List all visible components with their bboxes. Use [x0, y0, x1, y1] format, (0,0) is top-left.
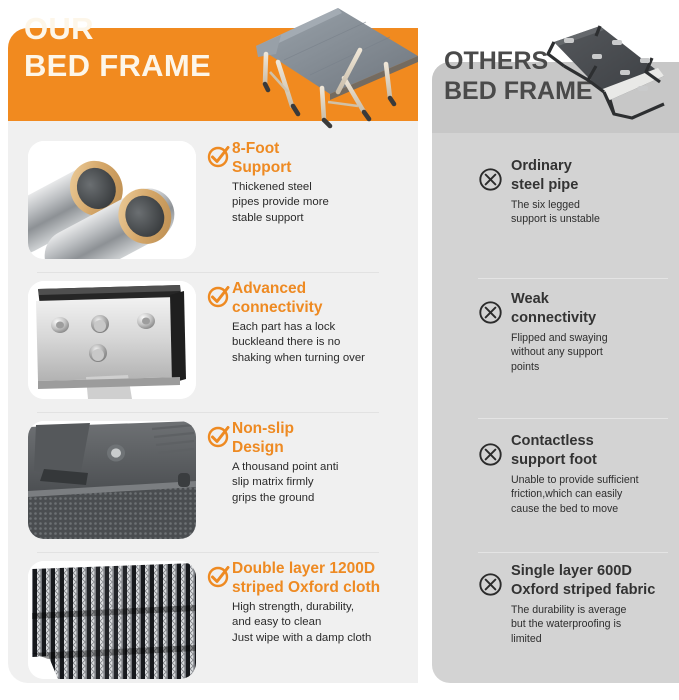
competitor-text-4: Single layer 600D Oxford striped fabric …: [511, 562, 679, 646]
competitor-desc-3: Unable to provide sufficient friction,wh…: [511, 473, 679, 516]
our-divider-1: [37, 272, 379, 273]
competitor-row-1: Ordinary steel pipe The six legged suppo…: [478, 155, 674, 295]
our-product-title: OUR BED FRAME: [24, 10, 211, 84]
competitor-desc-1: The six legged support is unstable: [511, 198, 679, 227]
check-circle-icon: [206, 143, 232, 169]
our-feature-title-3: Non-slip Design: [232, 419, 414, 457]
competitor-title-1: Ordinary steel pipe: [511, 157, 679, 195]
our-feature-desc-2: Each part has a lock buckleand there is …: [232, 320, 414, 366]
competitor-desc-4: The durability is average but the waterp…: [511, 603, 679, 646]
competitor-title-3: Contactless support foot: [511, 432, 679, 470]
competitor-divider-1: [478, 278, 668, 279]
competitor-text-3: Contactless support foot Unable to provi…: [511, 432, 679, 516]
our-feature-text-1: 8-Foot Support Thickened steel pipes pro…: [232, 139, 414, 226]
competitor-title-2: Weak connectivity: [511, 290, 679, 328]
x-circle-icon: [478, 442, 503, 467]
our-feature-row-3: Non-slip Design A thousand point anti sl…: [28, 415, 410, 555]
our-feature-title-2: Advanced connectivity: [232, 279, 414, 317]
our-feature-text-4: Double layer 1200D striped Oxford cloth …: [232, 559, 432, 646]
competitor-text-1: Ordinary steel pipe The six legged suppo…: [511, 157, 679, 227]
our-feature-text-2: Advanced connectivity Each part has a lo…: [232, 279, 414, 366]
our-feature-desc-3: A thousand point anti slip matrix firmly…: [232, 460, 414, 506]
our-feature-row-4: Double layer 1200D striped Oxford cloth …: [28, 555, 410, 695]
our-feature-title-4: Double layer 1200D striped Oxford cloth: [232, 559, 432, 597]
competitor-divider-2: [478, 418, 668, 419]
competitor-title-4: Single layer 600D Oxford striped fabric: [511, 562, 679, 600]
check-circle-icon: [206, 563, 232, 589]
check-circle-icon: [206, 283, 232, 309]
competitor-text-2: Weak connectivity Flipped and swaying wi…: [511, 290, 679, 374]
our-feature-title-1: 8-Foot Support: [232, 139, 414, 177]
our-feature-desc-4: High strength, durability, and easy to c…: [232, 600, 432, 646]
our-feature-row-2: Advanced connectivity Each part has a lo…: [28, 275, 410, 415]
check-circle-icon: [206, 423, 232, 449]
competitor-row-4: Single layer 600D Oxford striped fabric …: [478, 560, 674, 700]
x-circle-icon: [478, 300, 503, 325]
our-feature-text-3: Non-slip Design A thousand point anti sl…: [232, 419, 414, 506]
our-divider-3: [37, 552, 379, 553]
steel-pipe-cross-section-photo: [28, 141, 196, 259]
competitor-row-2: Weak connectivity Flipped and swaying wi…: [478, 288, 674, 428]
non-slip-foot-photo: [28, 421, 196, 539]
striped-oxford-fabric-photo: [28, 561, 196, 679]
x-circle-icon: [478, 167, 503, 192]
competitor-desc-2: Flipped and swaying without any support …: [511, 331, 679, 374]
x-circle-icon: [478, 572, 503, 597]
our-feature-row-1: 8-Foot Support Thickened steel pipes pro…: [28, 135, 410, 275]
our-divider-2: [37, 412, 379, 413]
competitor-cot-hero-image: [492, 14, 677, 132]
lock-buckle-bracket-photo: [28, 281, 196, 399]
competitor-row-3: Contactless support foot Unable to provi…: [478, 430, 674, 570]
our-cot-hero-image: [218, 2, 423, 130]
competitor-divider-3: [478, 552, 668, 553]
our-feature-desc-1: Thickened steel pipes provide more stabl…: [232, 180, 414, 226]
